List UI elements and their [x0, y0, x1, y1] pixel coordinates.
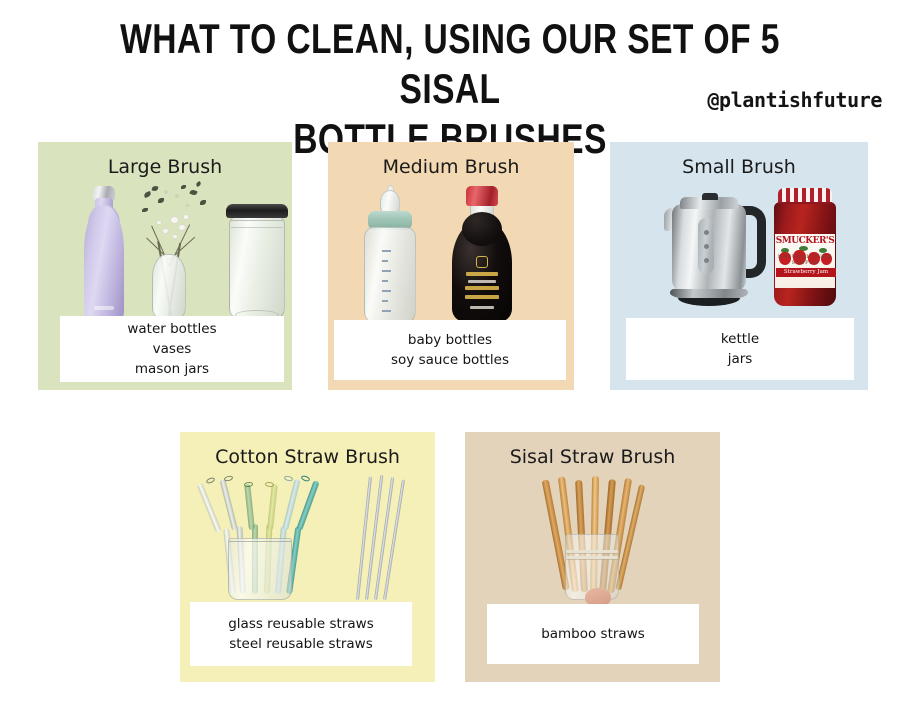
steel-straws-icon	[348, 474, 408, 602]
card-title-large-brush: Large Brush	[38, 156, 292, 178]
label-item: glass reusable straws	[228, 614, 374, 634]
jam-brand-text: SMUCKER'S	[775, 236, 835, 246]
water-bottle-icon	[84, 186, 124, 326]
label-box-sisal-straw-brush: bamboo straws	[487, 604, 699, 664]
label-item: kettle	[721, 329, 759, 349]
card-small-brush[interactable]: Small Brush SMUCKER'S	[610, 142, 868, 390]
card-title-medium-brush: Medium Brush	[328, 156, 574, 178]
card-title-small-brush: Small Brush	[610, 156, 868, 178]
label-box-cotton-straw-brush: glass reusable straws steel reusable str…	[190, 602, 412, 666]
glass-straws-icon	[202, 476, 332, 601]
card-sisal-straw-brush[interactable]: Sisal Straw Brush bamboo straws	[465, 432, 720, 682]
label-item: jars	[728, 349, 753, 369]
soy-sauce-bottle-icon	[452, 186, 512, 326]
infographic-page: WHAT TO CLEAN, USING OUR SET OF 5 SISAL …	[0, 0, 900, 720]
label-box-large-brush: water bottles vases mason jars	[60, 316, 284, 382]
mason-jar-icon	[226, 204, 288, 326]
label-item: mason jars	[135, 359, 209, 379]
label-item: soy sauce bottles	[391, 350, 509, 370]
card-medium-brush[interactable]: Medium Brush	[328, 142, 574, 390]
jam-jar-icon: SMUCKER'S NATURAL PURE SIMPLE Strawberry…	[774, 188, 836, 310]
label-item: vases	[153, 339, 192, 359]
label-item: water bottles	[127, 319, 216, 339]
electric-kettle-icon	[664, 190, 768, 310]
flower-vase-icon	[134, 176, 218, 326]
label-item: steel reusable straws	[229, 634, 373, 654]
card-cotton-straw-brush[interactable]: Cotton Straw Brush	[180, 432, 435, 682]
label-item: bamboo straws	[541, 624, 645, 644]
label-box-medium-brush: baby bottles soy sauce bottles	[334, 320, 566, 380]
card-large-brush[interactable]: Large Brush	[38, 142, 292, 390]
label-item: baby bottles	[408, 330, 492, 350]
bamboo-straws-icon	[545, 476, 645, 604]
jam-variety-text: Strawberry Jam	[776, 268, 836, 277]
title-line-1: WHAT TO CLEAN, USING OUR SET OF 5 SISAL	[120, 15, 780, 112]
label-box-small-brush: kettle jars	[626, 318, 854, 380]
jam-descriptor-text: NATURAL PURE SIMPLE	[775, 254, 835, 266]
card-title-cotton-straw-brush: Cotton Straw Brush	[180, 446, 435, 468]
baby-bottle-icon	[360, 190, 420, 326]
card-title-sisal-straw-brush: Sisal Straw Brush	[465, 446, 720, 468]
brand-handle: @plantishfuture	[707, 88, 882, 112]
